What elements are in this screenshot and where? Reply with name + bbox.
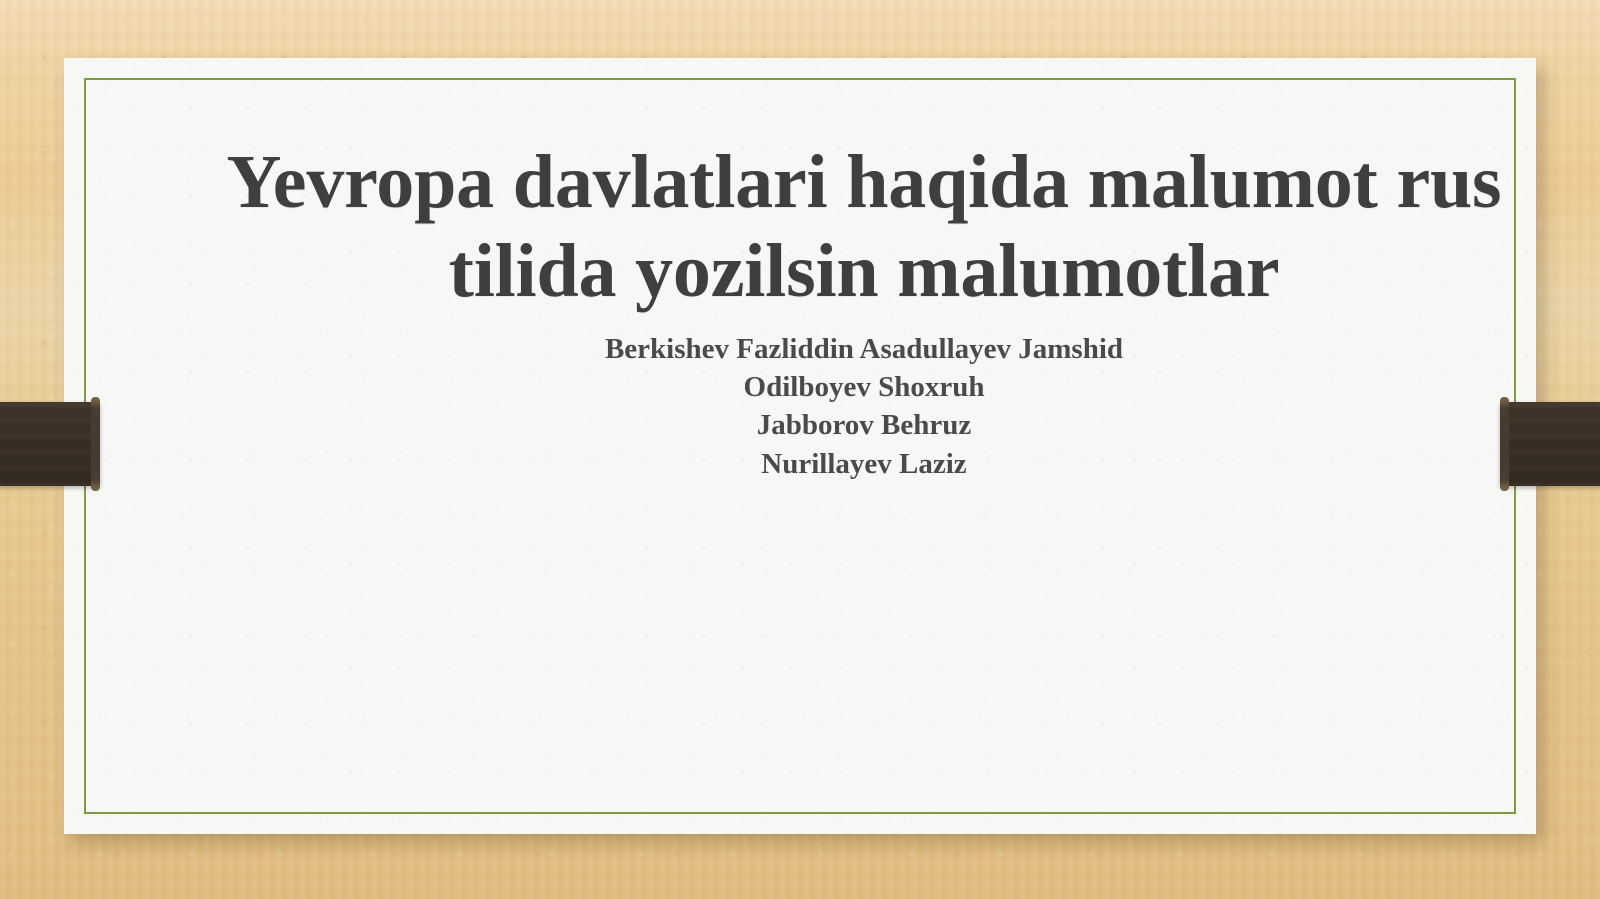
ribbon-cap-left	[91, 397, 100, 491]
presentation-slide: Yevropa davlatlari haqida malumot rus ti…	[0, 0, 1600, 899]
ribbon-decoration-right	[1500, 402, 1600, 486]
slide-text-block: Yevropa davlatlari haqida malumot rus ti…	[214, 138, 1514, 483]
ribbon-cap-right	[1500, 397, 1509, 491]
subtitle-line-1: Berkishev Fazliddin Asadullayev Jamshid	[214, 330, 1514, 368]
slide-title[interactable]: Yevropa davlatlari haqida malumot rus ti…	[214, 138, 1514, 316]
subtitle-line-4: Nurillayev Laziz	[214, 445, 1514, 483]
ribbon-decoration-left	[0, 402, 100, 486]
slide-subtitle[interactable]: Berkishev Fazliddin Asadullayev Jamshid …	[214, 330, 1514, 483]
subtitle-line-3: Jabborov Behruz	[214, 406, 1514, 444]
slide-card: Yevropa davlatlari haqida malumot rus ti…	[64, 58, 1536, 834]
subtitle-line-2: Odilboyev Shoxruh	[214, 368, 1514, 406]
